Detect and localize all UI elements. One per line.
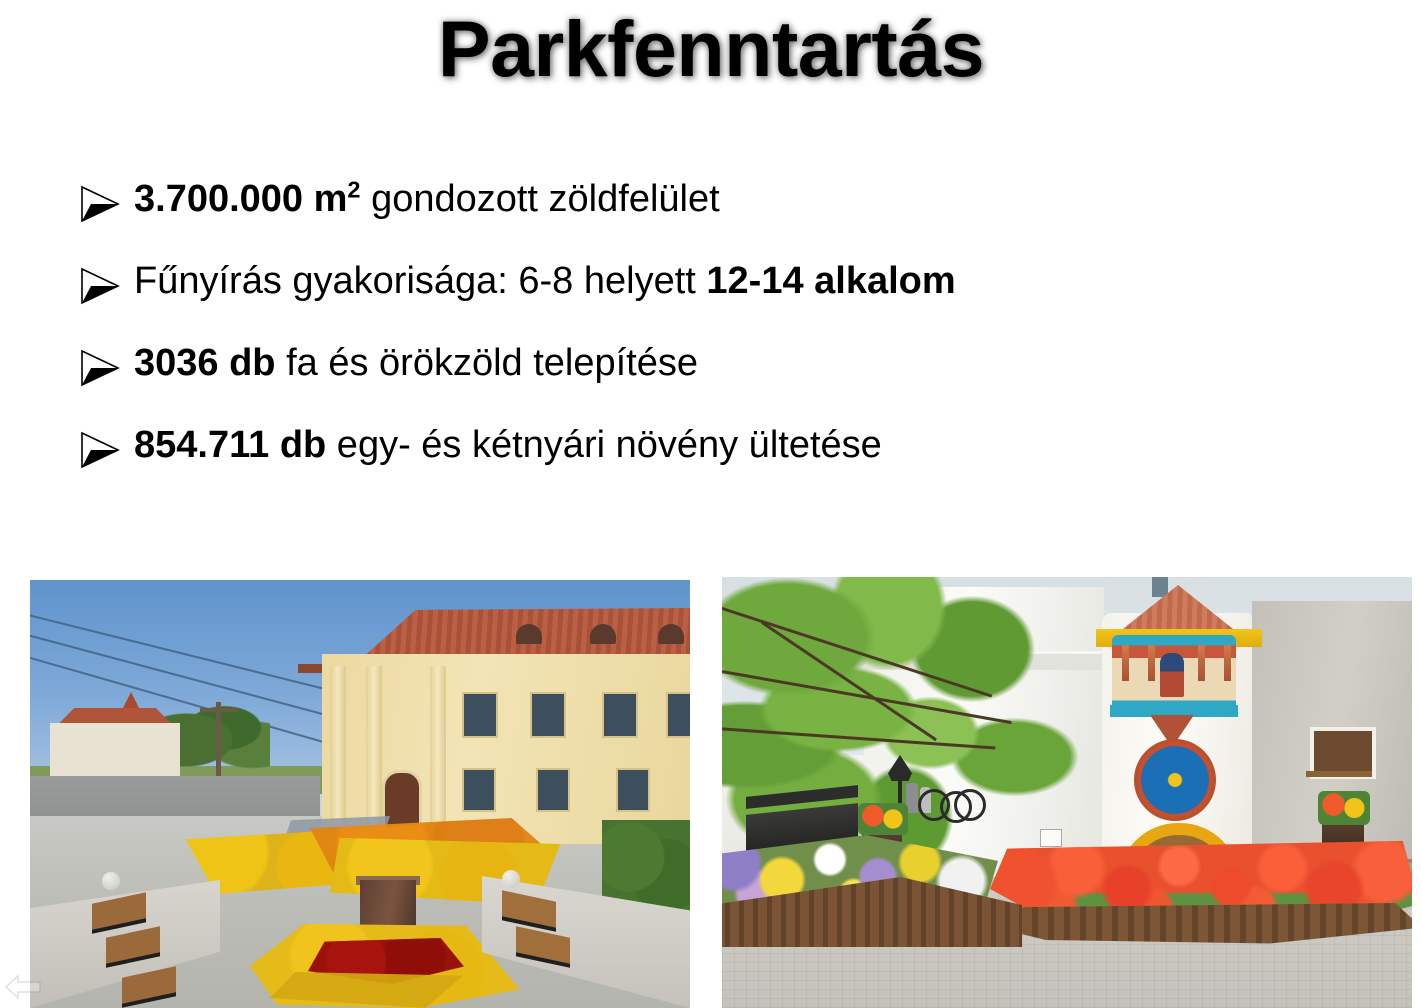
bullet-3-part-1: 3036 db (134, 342, 276, 384)
facade-pilaster (430, 666, 446, 832)
facade-window (536, 768, 570, 812)
previous-slide-button[interactable] (4, 972, 42, 1002)
list-item-text: 3036 db fa és örökzöld telepítése (134, 342, 1328, 385)
facade-window (462, 768, 496, 812)
bullet-list: 3.700.000 m2 gondozott zöldfelület Fűnyí… (78, 178, 1328, 506)
oriel-column (1148, 645, 1155, 681)
arrowhead-bullet-icon (78, 348, 134, 394)
list-item: 3.700.000 m2 gondozott zöldfelület (78, 178, 1328, 224)
bullet-3-part-2: fa és örökzöld telepítése (276, 342, 698, 384)
photo-town-square-tulips (722, 577, 1412, 1008)
oriel-column (1224, 645, 1231, 681)
bullet-4-part-2: egy- és kétnyári növény ültetése (326, 424, 882, 466)
facade-window (462, 692, 498, 738)
facade-window (616, 768, 650, 812)
utility-pole-crossarm (200, 708, 238, 712)
page-title: Parkfenntartás (0, 8, 1422, 91)
facade-pilaster (366, 666, 382, 832)
wall-sphere-ornament (102, 872, 120, 890)
bullet-1-superscript: 2 (347, 176, 360, 202)
plant-label-sign (1040, 829, 1062, 847)
bullet-2-part-1: Fűnyírás gyakorisága: 6-8 helyett (134, 260, 706, 302)
list-item: Fűnyírás gyakorisága: 6-8 helyett 12-14 … (78, 260, 1328, 306)
dormer-window (516, 624, 542, 644)
facade-window (666, 692, 690, 738)
window-sill (1306, 771, 1372, 777)
facade-pilaster (330, 666, 346, 832)
niche-statue (1160, 653, 1184, 697)
dormer-window (658, 624, 684, 644)
bullet-1-part-1: 3.700.000 m (134, 178, 347, 220)
arrowhead-bullet-icon (78, 184, 134, 230)
planter-tulips (1318, 791, 1370, 825)
bullet-4-part-1: 854.711 db (134, 424, 326, 466)
photo-manor-house-flower-beds (30, 580, 690, 1008)
wall-sphere-ornament (502, 870, 520, 888)
dormer-window (590, 624, 616, 644)
facade-window (530, 692, 566, 738)
bullet-2-part-2: 12-14 alkalom (706, 260, 955, 302)
bullet-1-part-3: gondozott zöldfelület (361, 178, 720, 220)
chimney (1152, 577, 1168, 597)
planter-box (360, 880, 416, 932)
planter-tulips (858, 803, 908, 835)
arrowhead-bullet-icon (78, 266, 134, 312)
mosaic-sundial (1134, 739, 1216, 821)
facade-window (602, 692, 638, 738)
list-item: 3036 db fa és örökzöld telepítése (78, 342, 1328, 388)
list-item: 854.711 db egy- és kétnyári növény ültet… (78, 424, 1328, 470)
list-item-text: 854.711 db egy- és kétnyári növény ültet… (134, 424, 1328, 467)
bicycle-wheel (940, 791, 972, 823)
oriel-column (1198, 645, 1205, 681)
list-item-text: Fűnyírás gyakorisága: 6-8 helyett 12-14 … (134, 260, 1328, 303)
far-house (50, 723, 180, 783)
list-item-text: 3.700.000 m2 gondozott zöldfelület (134, 178, 1328, 221)
slide-canvas: Parkfenntartás 3.700.000 m2 gondozott zö… (0, 0, 1422, 1008)
arrowhead-bullet-icon (78, 430, 134, 476)
